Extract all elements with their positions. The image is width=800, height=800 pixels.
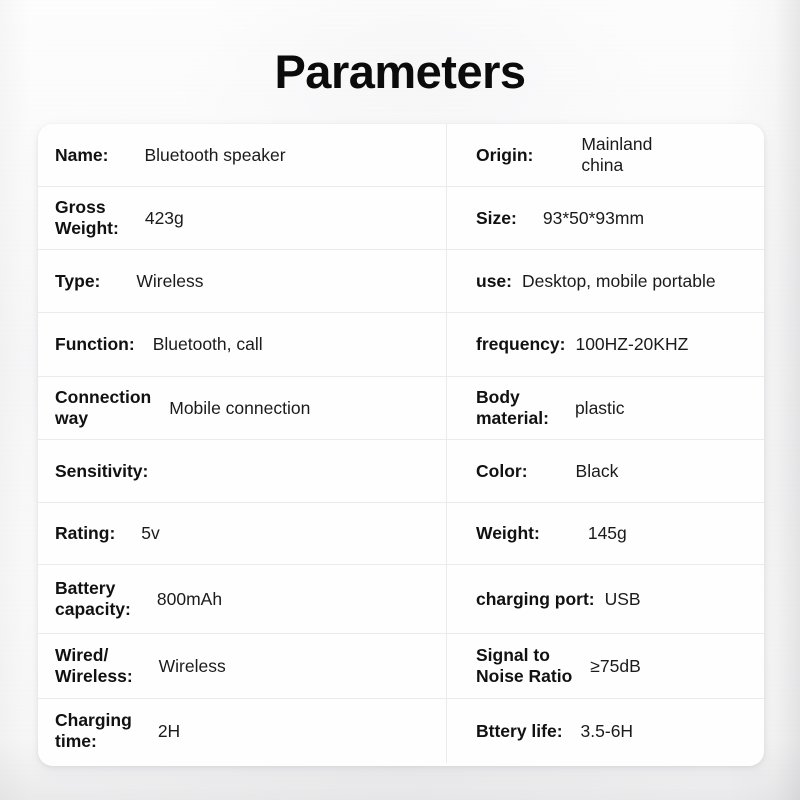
spec-value: 2H xyxy=(158,721,180,742)
spec-cell-color: Color: Black xyxy=(447,440,764,502)
spec-value: plastic xyxy=(575,398,625,419)
page-title: Parameters xyxy=(0,44,800,100)
spec-label: Function: xyxy=(55,334,135,355)
table-row: Charging time: 2H Bttery life: 3.5-6H xyxy=(38,699,764,763)
table-row: Type: Wireless use: Desktop, mobile port… xyxy=(38,250,764,313)
spec-label: Rating: xyxy=(55,523,115,544)
product-parameters-page: Parameters Name: Bluetooth speaker Origi… xyxy=(0,0,800,800)
spec-cell-signal-to-noise-ratio: Signal to Noise Ratio ≥75dB xyxy=(447,634,764,698)
table-row: Connection way Mobile connection Body ma… xyxy=(38,377,764,440)
spec-label: Connection way xyxy=(55,387,151,429)
spec-label: Charging time: xyxy=(55,710,132,752)
spec-value: Mobile connection xyxy=(169,398,310,419)
spec-value: 5v xyxy=(141,523,159,544)
spec-value: Bluetooth, call xyxy=(153,334,263,355)
spec-cell-function: Function: Bluetooth, call xyxy=(38,313,447,376)
spec-value: 423g xyxy=(145,208,184,229)
spec-cell-use: use: Desktop, mobile portable xyxy=(447,250,764,312)
spec-label: Origin: xyxy=(476,145,533,166)
spec-value: 100HZ-20KHZ xyxy=(575,334,688,355)
table-row: Function: Bluetooth, call frequency: 100… xyxy=(38,313,764,377)
spec-label: Sensitivity: xyxy=(55,461,148,482)
spec-cell-wired-wireless: Wired/ Wireless: Wireless xyxy=(38,634,447,698)
spec-label: Wired/ Wireless: xyxy=(55,645,133,687)
spec-label: Color: xyxy=(476,461,528,482)
spec-cell-size: Size: 93*50*93mm xyxy=(447,187,764,249)
spec-value: 800mAh xyxy=(157,589,222,610)
spec-cell-frequency: frequency: 100HZ-20KHZ xyxy=(447,313,764,376)
spec-cell-origin: Origin: Mainland china xyxy=(447,124,764,186)
table-row: Name: Bluetooth speaker Origin: Mainland… xyxy=(38,124,764,187)
spec-value: Desktop, mobile portable xyxy=(522,271,716,292)
spec-label: Type: xyxy=(55,271,100,292)
spec-label: use: xyxy=(476,271,512,292)
spec-cell-sensitivity: Sensitivity: xyxy=(38,440,447,502)
spec-cell-body-material: Body material: plastic xyxy=(447,377,764,439)
table-row: Gross Weight: 423g Size: 93*50*93mm xyxy=(38,187,764,250)
spec-value: Mainland china xyxy=(581,134,652,176)
spec-cell-battery-life: Bttery life: 3.5-6H xyxy=(447,699,764,763)
spec-cell-gross-weight: Gross Weight: 423g xyxy=(38,187,447,249)
spec-value: USB xyxy=(605,589,641,610)
spec-value: Bluetooth speaker xyxy=(145,145,286,166)
spec-label: Battery capacity: xyxy=(55,578,131,620)
specifications-table: Name: Bluetooth speaker Origin: Mainland… xyxy=(38,124,764,766)
spec-cell-rating: Rating: 5v xyxy=(38,503,447,564)
table-row: Wired/ Wireless: Wireless Signal to Nois… xyxy=(38,634,764,699)
spec-cell-type: Type: Wireless xyxy=(38,250,447,312)
spec-label: Body material: xyxy=(476,387,549,429)
spec-cell-connection-way: Connection way Mobile connection xyxy=(38,377,447,439)
spec-label: Name: xyxy=(55,145,109,166)
spec-cell-name: Name: Bluetooth speaker xyxy=(38,124,447,186)
spec-label: Size: xyxy=(476,208,517,229)
spec-label: Weight: xyxy=(476,523,540,544)
spec-cell-weight: Weight: 145g xyxy=(447,503,764,564)
spec-value: 93*50*93mm xyxy=(543,208,644,229)
spec-value: Black xyxy=(576,461,619,482)
spec-cell-battery-capacity: Battery capacity: 800mAh xyxy=(38,565,447,633)
spec-cell-charging-port: charging port: USB xyxy=(447,565,764,633)
spec-value: Wireless xyxy=(136,271,203,292)
spec-value: 3.5-6H xyxy=(581,721,634,742)
spec-label: charging port: xyxy=(476,589,595,610)
table-row: Rating: 5v Weight: 145g xyxy=(38,503,764,565)
spec-value: Wireless xyxy=(159,656,226,677)
spec-label: Bttery life: xyxy=(476,721,563,742)
table-row: Sensitivity: Color: Black xyxy=(38,440,764,503)
spec-value: 145g xyxy=(588,523,627,544)
spec-label: Gross Weight: xyxy=(55,197,119,239)
spec-label: Signal to Noise Ratio xyxy=(476,645,572,687)
spec-value: ≥75dB xyxy=(590,656,640,677)
spec-label: frequency: xyxy=(476,334,565,355)
spec-cell-charging-time: Charging time: 2H xyxy=(38,699,447,763)
table-row: Battery capacity: 800mAh charging port: … xyxy=(38,565,764,634)
